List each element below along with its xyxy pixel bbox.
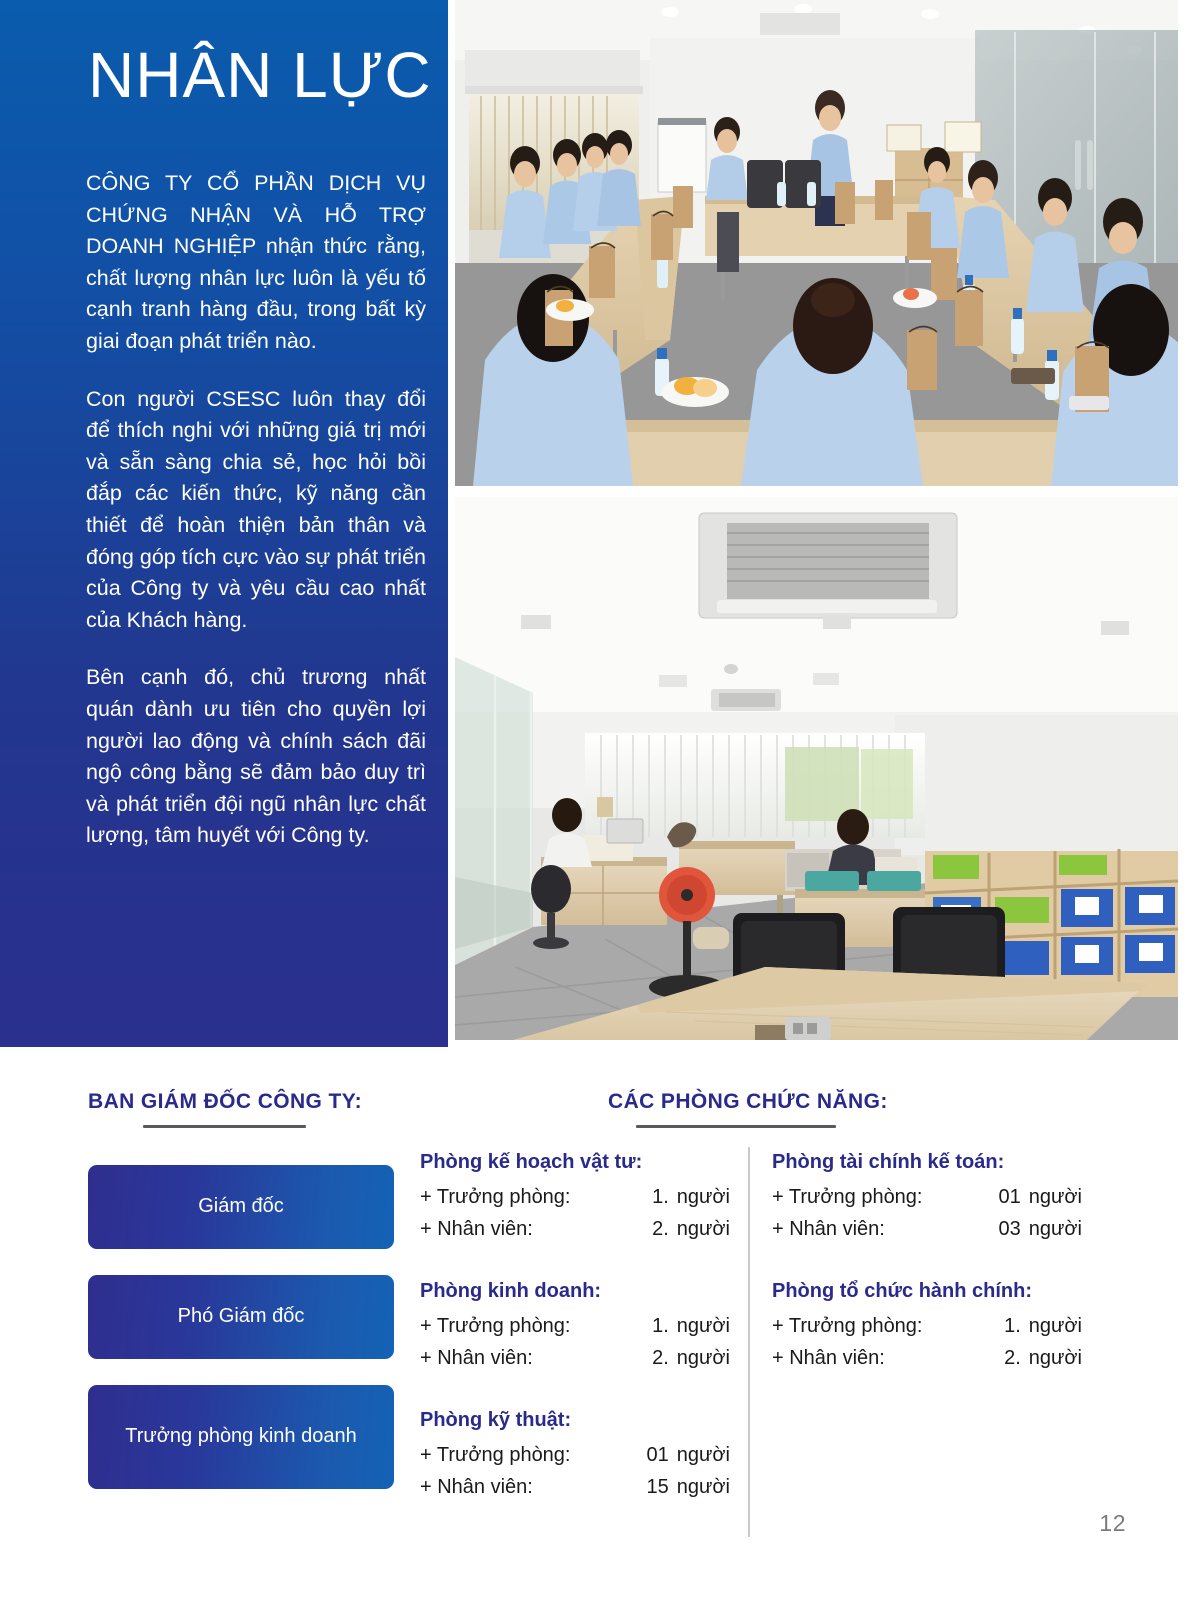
director-box-label: Trưởng phòng kinh doanh: [125, 1424, 356, 1450]
department-row: + Trưởng phòng: 1. người: [772, 1310, 1082, 1342]
row-label: + Nhân viên:: [420, 1342, 533, 1374]
row-label: + Nhân viên:: [772, 1342, 885, 1374]
departments-column-right: Phòng tài chính kế toán: + Trưởng phòng:…: [772, 1151, 1082, 1375]
director-box-giam-doc[interactable]: Giám đốc: [88, 1165, 394, 1249]
row-count: 1.: [635, 1181, 669, 1213]
director-box-label: Phó Giám đốc: [178, 1304, 305, 1330]
department-ke-hoach-vat-tu: Phòng kế hoạch vật tư: + Trưởng phòng: 1…: [420, 1151, 730, 1246]
department-kinh-doanh: Phòng kinh doanh: + Trưởng phòng: 1. ngư…: [420, 1280, 730, 1375]
departments-heading-rule: [636, 1125, 836, 1128]
departments-heading: CÁC PHÒNG CHỨC NĂNG:: [608, 1090, 888, 1128]
row-label: + Trưởng phòng:: [420, 1439, 571, 1471]
row-unit: người: [677, 1181, 730, 1213]
row-count: 01: [635, 1439, 669, 1471]
open-office-illustration: [455, 497, 1178, 1040]
page-title: NHÂN LỰC: [88, 42, 432, 109]
row-unit: người: [677, 1213, 730, 1245]
open-office-photo: [455, 497, 1178, 1040]
department-tai-chinh-ke-toan: Phòng tài chính kế toán: + Trưởng phòng:…: [772, 1151, 1082, 1246]
row-label: + Nhân viên:: [420, 1213, 533, 1245]
row-unit: người: [1029, 1181, 1082, 1213]
department-row: + Trưởng phòng: 01 người: [772, 1181, 1082, 1213]
lower-info-section: BAN GIÁM ĐỐC CÔNG TY: CÁC PHÒNG CHỨC NĂN…: [0, 1047, 1200, 1597]
row-unit: người: [1029, 1213, 1082, 1245]
row-count: 2.: [987, 1342, 1021, 1374]
department-row: + Nhân viên: 15 người: [420, 1471, 730, 1503]
row-label: + Trưởng phòng:: [772, 1181, 923, 1213]
department-row: + Trưởng phòng: 01 người: [420, 1439, 730, 1471]
department-row: + Trưởng phòng: 1. người: [420, 1310, 730, 1342]
department-row: + Nhân viên: 2. người: [420, 1342, 730, 1374]
row-count: 1.: [987, 1310, 1021, 1342]
page-number: 12: [1099, 1510, 1126, 1537]
board-heading-text: BAN GIÁM ĐỐC CÔNG TY:: [88, 1090, 362, 1113]
row-unit: người: [1029, 1310, 1082, 1342]
row-count: 01: [987, 1181, 1021, 1213]
board-of-directors-heading: BAN GIÁM ĐỐC CÔNG TY:: [88, 1090, 362, 1128]
department-row: + Trưởng phòng: 1. người: [420, 1181, 730, 1213]
row-unit: người: [677, 1439, 730, 1471]
left-blue-panel: NHÂN LỰC CÔNG TY CỔ PHẦN DỊCH VỤ CHỨNG N…: [0, 0, 448, 1047]
row-label: + Nhân viên:: [420, 1471, 533, 1503]
row-label: + Nhân viên:: [772, 1213, 885, 1245]
intro-paragraph-3: Bên cạnh đó, chủ trương nhất quán dành ư…: [86, 662, 426, 852]
director-box-label: Giám đốc: [198, 1194, 284, 1220]
department-title: Phòng tổ chức hành chính:: [772, 1280, 1082, 1303]
board-heading-rule: [143, 1125, 306, 1128]
row-label: + Trưởng phòng:: [420, 1181, 571, 1213]
row-count: 1.: [635, 1310, 669, 1342]
department-row: + Nhân viên: 2. người: [420, 1213, 730, 1245]
row-count: 15: [635, 1471, 669, 1503]
meeting-room-photo: [455, 0, 1178, 486]
meeting-room-illustration: [455, 0, 1178, 486]
department-to-chuc-hanh-chinh: Phòng tổ chức hành chính: + Trưởng phòng…: [772, 1280, 1082, 1375]
department-row: + Nhân viên: 03 người: [772, 1213, 1082, 1245]
director-box-pho-giam-doc[interactable]: Phó Giám đốc: [88, 1275, 394, 1359]
row-unit: người: [677, 1471, 730, 1503]
row-count: 2.: [635, 1213, 669, 1245]
department-title: Phòng tài chính kế toán:: [772, 1151, 1082, 1174]
intro-text-block: CÔNG TY CỔ PHẦN DỊCH VỤ CHỨNG NHẬN VÀ HỖ…: [86, 168, 426, 852]
row-count: 03: [987, 1213, 1021, 1245]
department-title: Phòng kinh doanh:: [420, 1280, 730, 1303]
director-box-truong-phong-kinh-doanh[interactable]: Trưởng phòng kinh doanh: [88, 1385, 394, 1489]
department-row: + Nhân viên: 2. người: [772, 1342, 1082, 1374]
departments-column-left: Phòng kế hoạch vật tư: + Trưởng phòng: 1…: [420, 1151, 730, 1503]
brochure-page: NHÂN LỰC CÔNG TY CỔ PHẦN DỊCH VỤ CHỨNG N…: [0, 0, 1200, 1597]
board-of-directors-boxes: Giám đốc Phó Giám đốc Trưởng phòng kinh …: [88, 1165, 394, 1489]
departments-heading-text: CÁC PHÒNG CHỨC NĂNG:: [608, 1090, 888, 1113]
column-divider: [748, 1147, 750, 1537]
intro-paragraph-2: Con người CSESC luôn thay đổi để thích n…: [86, 384, 426, 637]
department-title: Phòng kỹ thuật:: [420, 1409, 730, 1432]
intro-paragraph-1: CÔNG TY CỔ PHẦN DỊCH VỤ CHỨNG NHẬN VÀ HỖ…: [86, 168, 426, 358]
row-count: 2.: [635, 1342, 669, 1374]
row-label: + Trưởng phòng:: [420, 1310, 571, 1342]
row-unit: người: [1029, 1342, 1082, 1374]
row-unit: người: [677, 1310, 730, 1342]
row-unit: người: [677, 1342, 730, 1374]
row-label: + Trưởng phòng:: [772, 1310, 923, 1342]
department-ky-thuat: Phòng kỹ thuật: + Trưởng phòng: 01 người…: [420, 1409, 730, 1504]
department-title: Phòng kế hoạch vật tư:: [420, 1151, 730, 1174]
